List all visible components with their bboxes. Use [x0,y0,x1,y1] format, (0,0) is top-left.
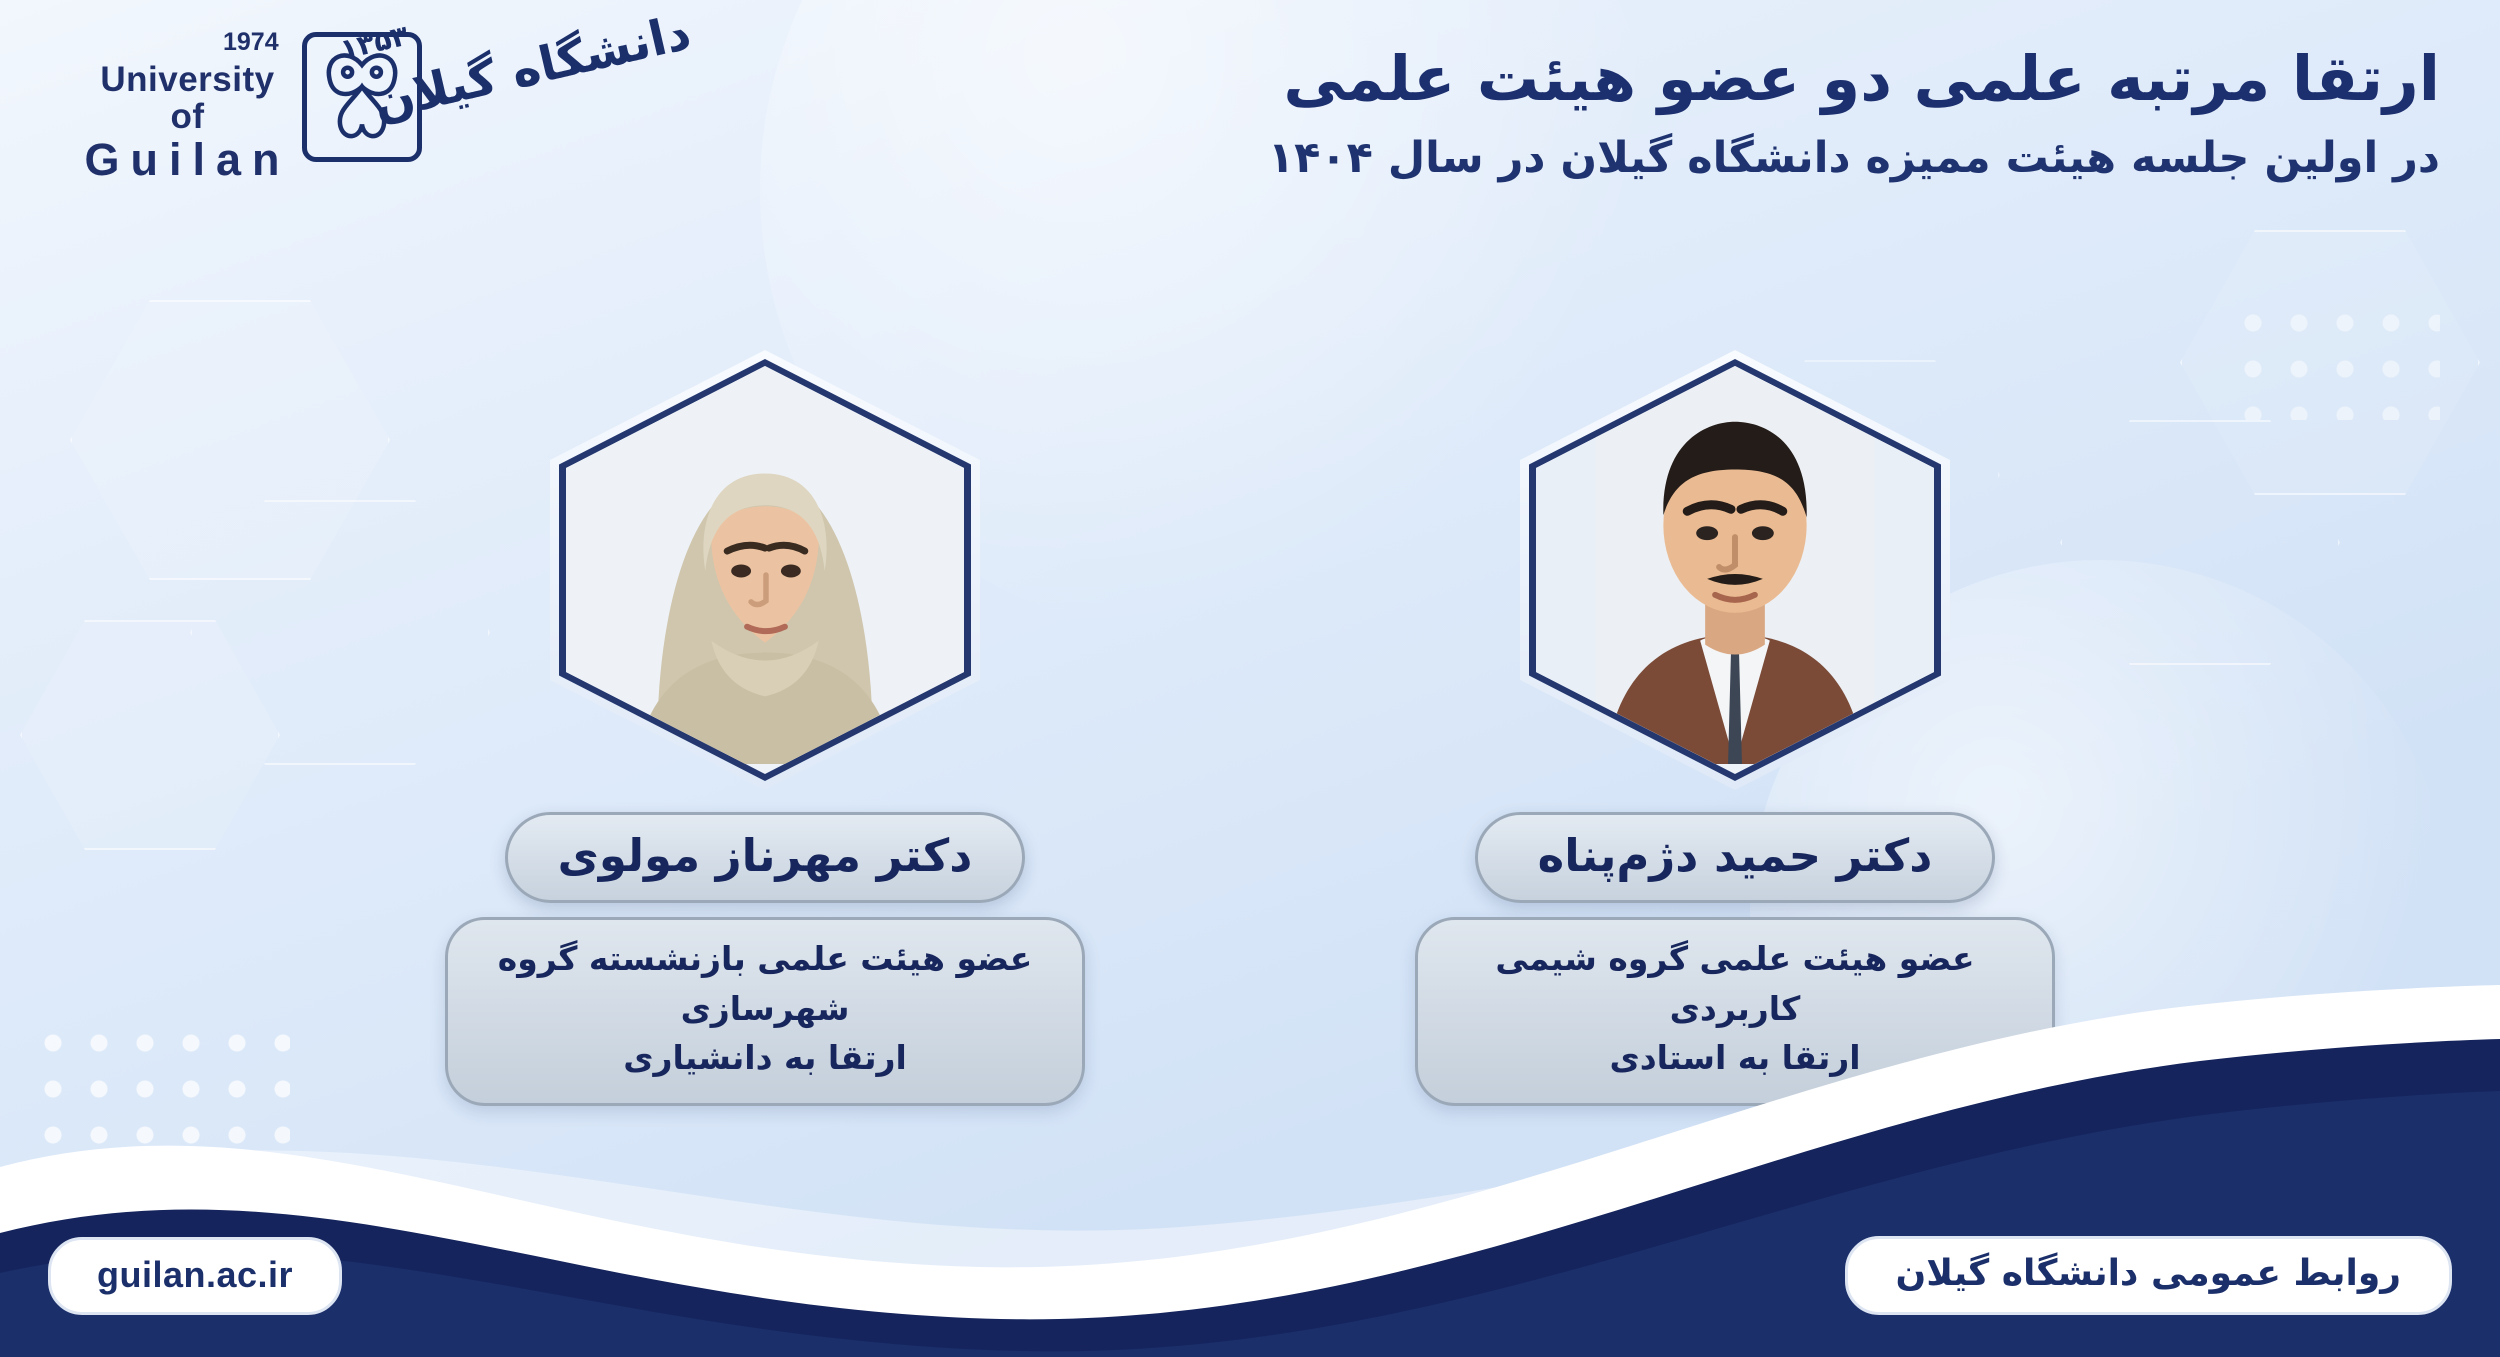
header-titles: ارتقا مرتبه علمی دو عضو هیئت علمی در اول… [1060,40,2440,188]
logo-text-en: University of Guilan [80,62,295,183]
person-name: دکتر حمید دژم‌پناه [1475,812,1995,903]
logo-text-en-line1: University of [80,62,295,136]
page-title: ارتقا مرتبه علمی دو عضو هیئت علمی [1060,40,2440,118]
logo-text-fa: دانشگاه گیلان [368,4,696,131]
university-logo: 1974 University of Guilan ۱۳۵۳ دانشگاه گ… [40,10,740,200]
public-relations-label: روابط عمومی دانشگاه گیلان [1845,1236,2452,1315]
person-name: دکتر مهرناز مولوی [505,812,1025,903]
page-subtitle: در اولین جلسه هیئت ممیزه دانشگاه گیلان د… [1060,128,2440,188]
logo-year-en: 1974 [223,28,279,57]
logo-text-en-line2: Guilan [80,136,295,183]
person-photo [1520,350,1950,790]
person-photo [550,350,980,790]
website-url[interactable]: guilan.ac.ir [48,1237,342,1315]
poster-root: 1974 University of Guilan ۱۳۵۳ دانشگاه گ… [0,0,2500,1357]
